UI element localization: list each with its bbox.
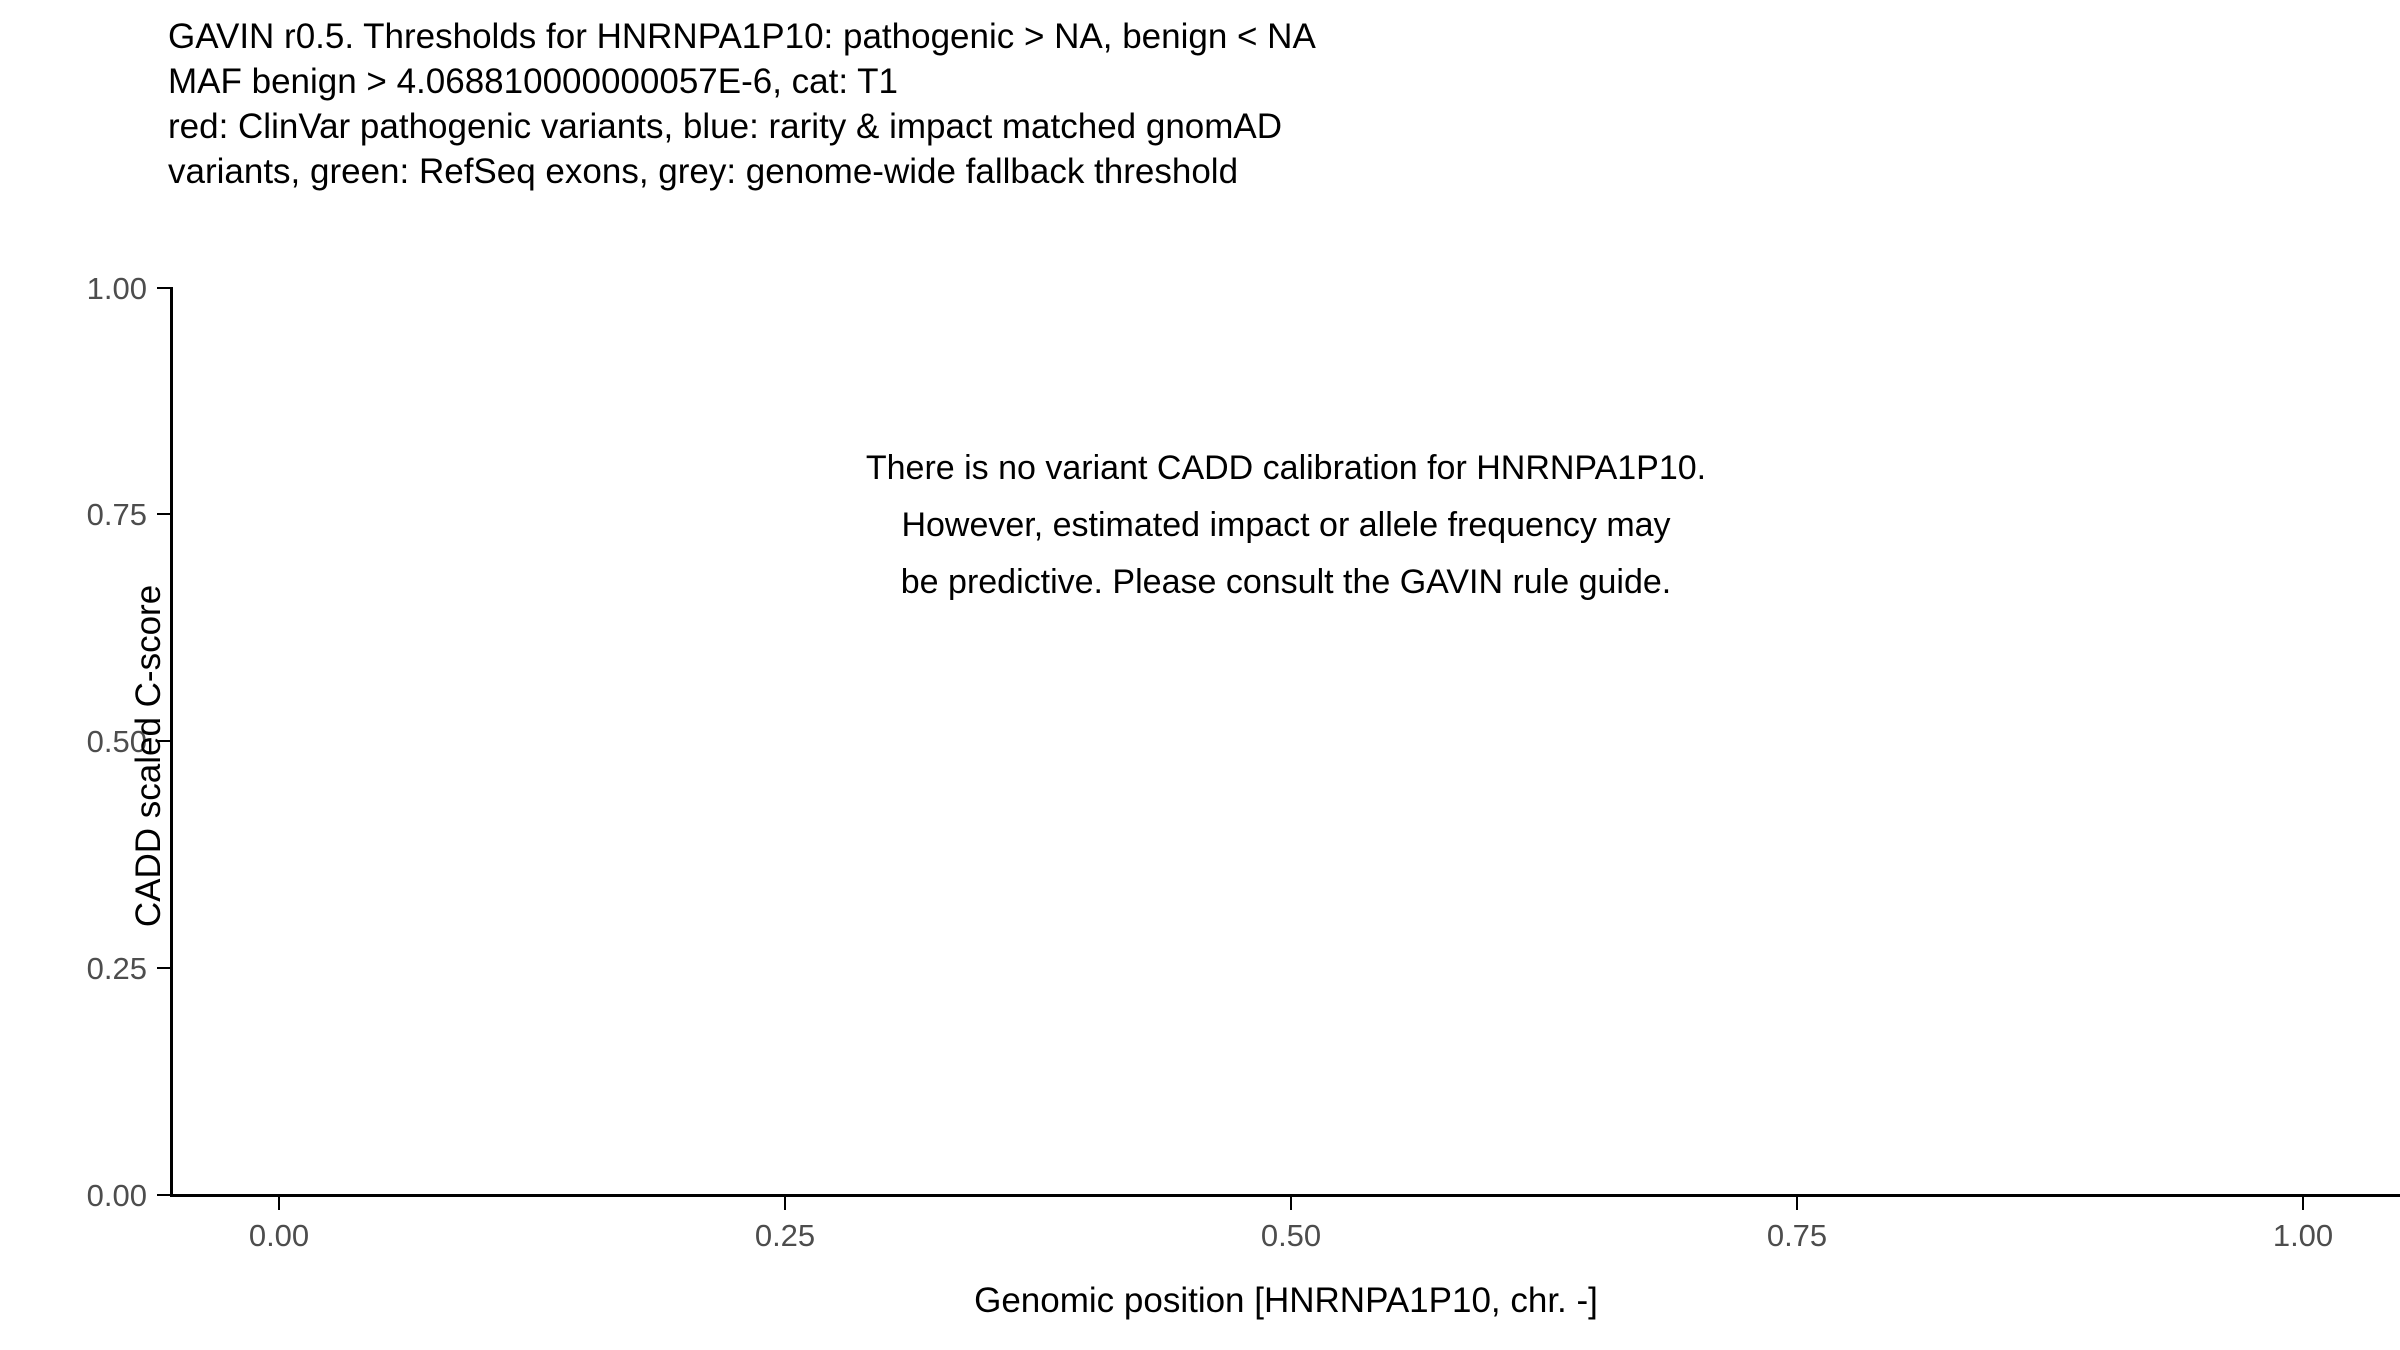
x-axis-tick-label: 1.00: [2273, 1218, 2333, 1254]
x-axis-tick-label: 0.25: [755, 1218, 815, 1254]
no-calibration-message: There is no variant CADD calibration for…: [172, 440, 2400, 611]
x-axis-title: Genomic position [HNRNPA1P10, chr. -]: [172, 1281, 2400, 1321]
no-calibration-message-line-3: be predictive. Please consult the GAVIN …: [172, 554, 2400, 611]
y-axis-tick-mark: [157, 287, 170, 289]
x-axis-tick-mark: [784, 1197, 786, 1210]
x-axis-line: [170, 1194, 2400, 1197]
x-axis-tick-label: 0.75: [1767, 1218, 1827, 1254]
x-axis-tick-mark: [278, 1197, 280, 1210]
x-axis-tick-label: 0.00: [249, 1218, 309, 1254]
x-axis-tick-mark: [2302, 1197, 2304, 1210]
y-axis-line: [170, 287, 173, 1197]
x-axis-tick-label: 0.50: [1261, 1218, 1321, 1254]
x-axis-tick-mark: [1290, 1197, 1292, 1210]
y-axis-title: CADD scaled C-score: [129, 301, 169, 1211]
no-calibration-message-line-1: There is no variant CADD calibration for…: [172, 440, 2400, 497]
no-calibration-message-line-2: However, estimated impact or allele freq…: [172, 497, 2400, 554]
plot-area: 0.00 0.25 0.50 0.75 1.00 0.00 0.25 0.50 …: [0, 0, 2400, 1350]
x-axis-tick-mark: [1796, 1197, 1798, 1210]
plot-panel: [172, 287, 2400, 1194]
